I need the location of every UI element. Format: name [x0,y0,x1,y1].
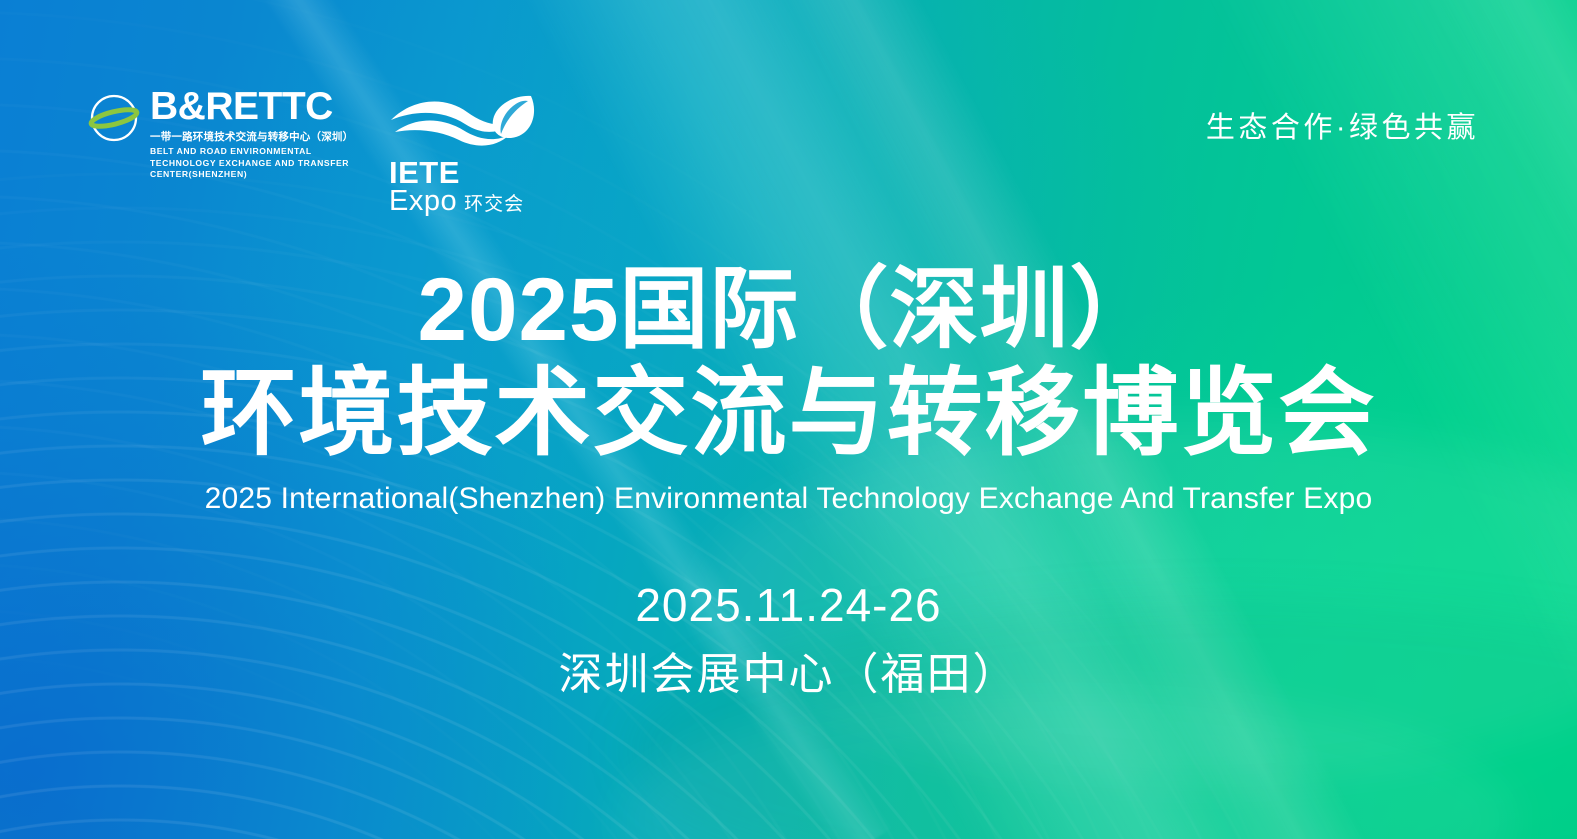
event-venue: 深圳会展中心（福田） [0,638,1577,702]
brettc-name-cn: 一带一路环境技术交流与转移中心（深圳） [150,129,355,144]
logo-row: B&RETTC 一带一路环境技术交流与转移中心（深圳） BELT AND ROA… [88,88,541,216]
iete-expo-logo: IETE Expo 环交会 [389,90,541,216]
event-date: 2025.11.24-26 [0,578,1577,632]
iete-expo-word: Expo [389,187,457,216]
page-subtitle-en: 2025 International(Shenzhen) Environment… [0,482,1577,516]
page-title-line-1: 2025国际（深圳） [0,262,1577,356]
iete-word-cn: 环交会 [464,195,524,214]
event-banner: B&RETTC 一带一路环境技术交流与转移中心（深圳） BELT AND ROA… [0,0,1577,839]
brettc-name-en: BELT AND ROAD ENVIRONMENTAL TECHNOLOGY E… [150,146,355,180]
brettc-acronym: B&RETTC [150,88,355,126]
brettc-logo: B&RETTC 一带一路环境技术交流与转移中心（深圳） BELT AND ROA… [88,88,355,180]
leaf-wave-icon [389,90,541,157]
event-slogan: 生态合作·绿色共赢 [1206,104,1479,146]
globe-icon [88,92,140,149]
page-title-line-2: 环境技术交流与转移博览会 [0,362,1577,466]
main-title-block: 2025国际（深圳） 环境技术交流与转移博览会 2025 Internation… [0,262,1577,702]
